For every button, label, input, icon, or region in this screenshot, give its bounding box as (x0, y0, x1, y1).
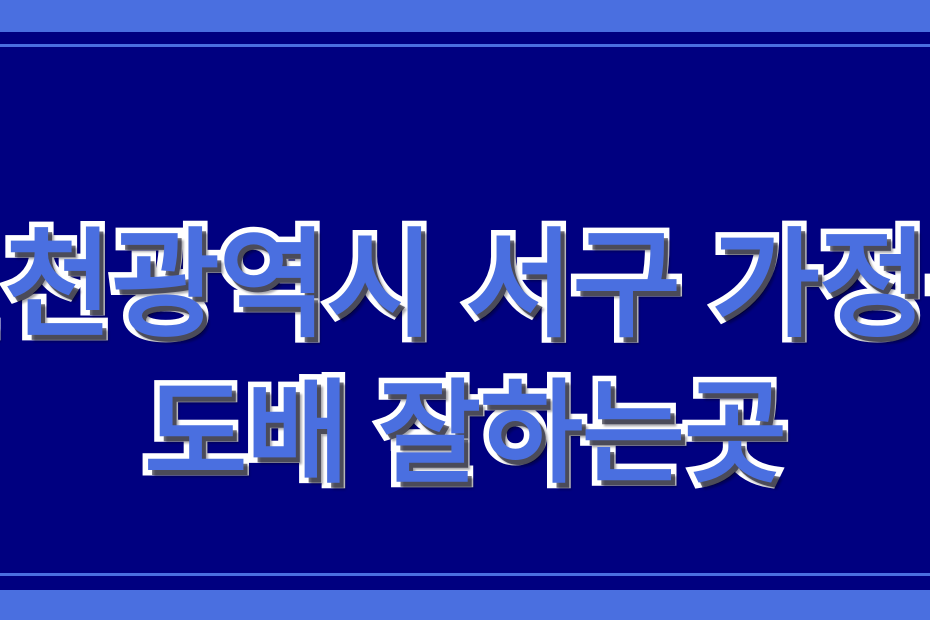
top-accent-band (0, 0, 930, 32)
bottom-accent-rule (0, 573, 930, 576)
headline-stage: 인천광역시 서구 가정동 도배 잘하는곳 (0, 32, 930, 590)
banner-canvas: 인천광역시 서구 가정동 도배 잘하는곳 (0, 0, 930, 620)
headline-line-2: 도배 잘하는곳 (144, 374, 786, 495)
bottom-accent-band (0, 590, 930, 620)
headline-line-1: 인천광역시 서구 가정동 (0, 223, 930, 350)
